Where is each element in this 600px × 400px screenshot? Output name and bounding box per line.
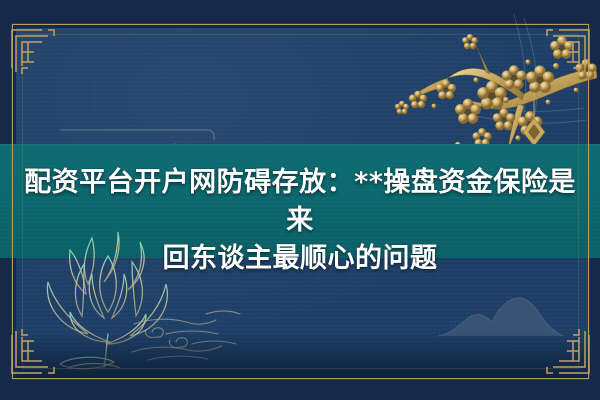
title-band: 配资平台开户网防碍存放：**操盘资金保险是来 回东谈主最顺心的问题 <box>0 144 600 258</box>
panel-bottom-shadow <box>16 332 588 378</box>
poster-canvas: 配资平台开户网防碍存放：**操盘资金保险是来 回东谈主最顺心的问题 <box>0 0 600 400</box>
page-title: 配资平台开户网防碍存放：**操盘资金保险是来 回东谈主最顺心的问题 <box>0 144 600 278</box>
